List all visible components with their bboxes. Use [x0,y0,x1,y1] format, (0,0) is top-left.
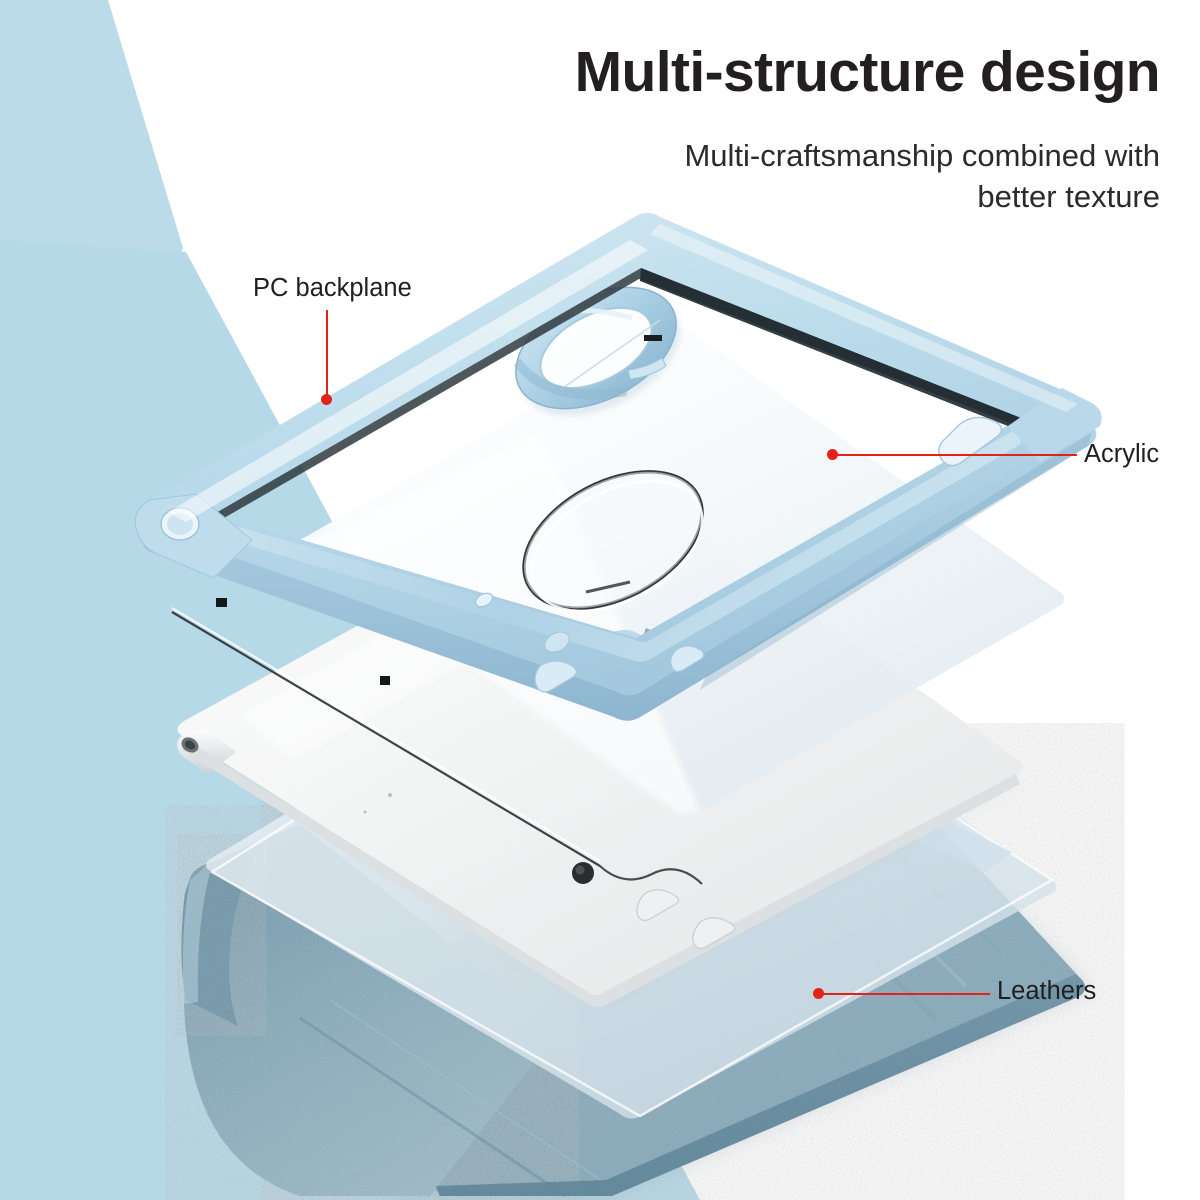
tablet-camera-lens [576,866,585,875]
acrylic-sliver-marker-mid [380,676,390,685]
page-subtitle: Multi-craftsmanship combined with better… [420,136,1160,218]
callout-leader-line-pc-backplane [326,310,328,399]
tablet-mic-hole-1 [388,793,392,797]
page-title: Multi-structure design [200,42,1160,104]
callout-label-pc-backplane: PC backplane [253,276,412,302]
infographic-canvas: Multi-structure design Multi-craftsmansh… [0,0,1200,1200]
callout-leader-line-leathers [818,993,990,995]
page-subtitle-line1: Multi-craftsmanship combined with [420,136,1160,177]
acrylic-sliver-marker-left [216,598,227,607]
tablet-mic-hole-2 [363,810,366,813]
ring-holder-marker [644,335,662,341]
callout-leader-line-acrylic [832,454,1077,456]
callout-dot-pc-backplane [321,394,332,405]
callout-dot-leathers [813,988,824,999]
callout-dot-acrylic [827,449,838,460]
callout-label-leathers: Leathers [997,979,1096,1005]
callout-label-acrylic: Acrylic [1084,442,1159,468]
page-subtitle-line2: better texture [420,177,1160,218]
